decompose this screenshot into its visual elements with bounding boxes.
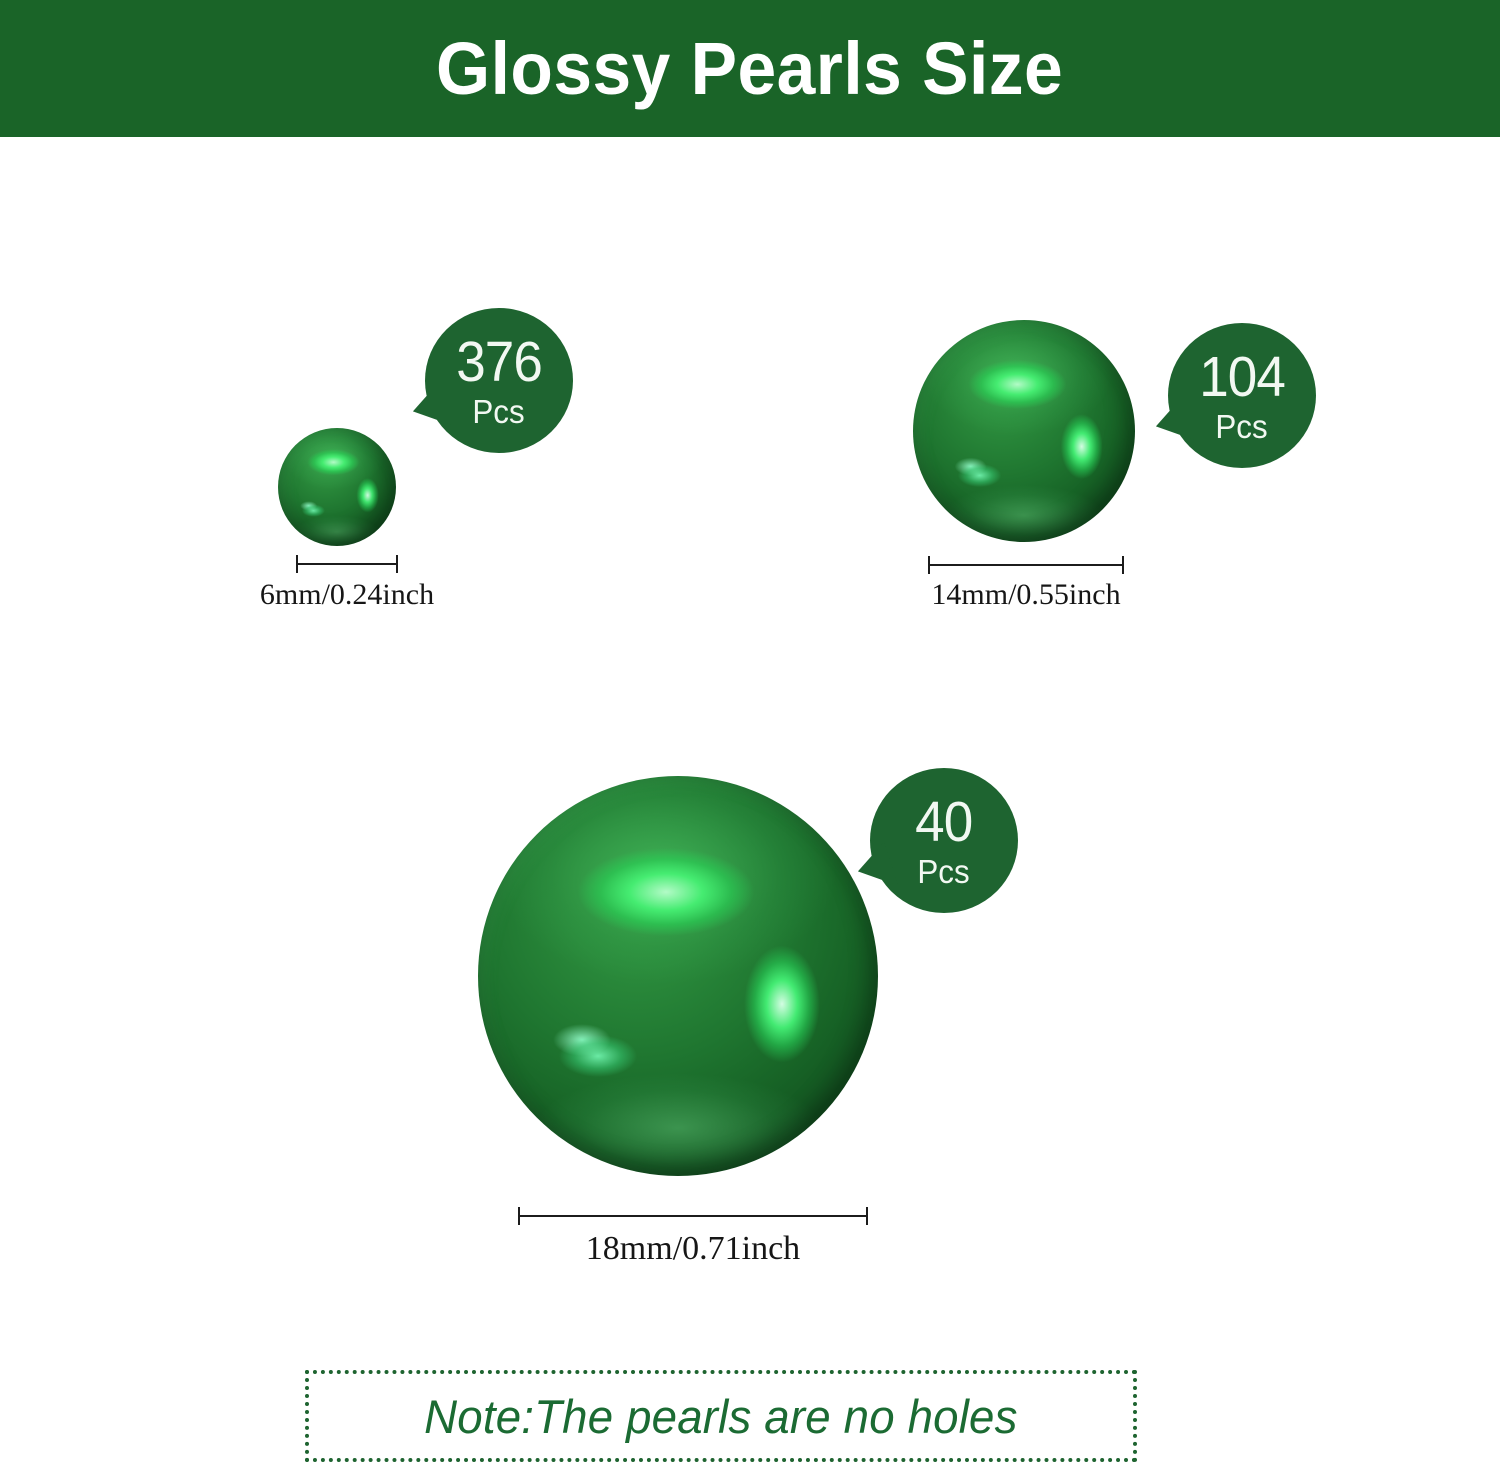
bubble-unit-medium: Pcs — [1216, 410, 1268, 443]
callout-bubble-medium: 104 Pcs — [1168, 323, 1316, 468]
dimension-line-medium — [928, 556, 1124, 574]
bubble-label-group-small: 376 Pcs — [425, 308, 573, 453]
dimension-rule-icon — [928, 564, 1124, 566]
pearl-image-medium — [913, 320, 1135, 542]
product-size-infographic: Glossy Pearls Size 376 Pcs 6mm/0.24inch … — [0, 0, 1500, 1466]
bubble-count-medium: 104 — [1199, 349, 1285, 406]
pearl-image-small — [278, 428, 396, 546]
dimension-cap-right-icon — [866, 1207, 868, 1225]
size-label-small: 6mm/0.24inch — [147, 580, 547, 610]
size-label-large: 18mm/0.71inch — [493, 1232, 893, 1266]
dimension-line-large — [518, 1207, 868, 1225]
size-label-medium: 14mm/0.55inch — [826, 580, 1226, 610]
note-box: Note:The pearls are no holes — [305, 1370, 1137, 1462]
pearl-image-large — [478, 776, 878, 1176]
bubble-label-group-medium: 104 Pcs — [1168, 323, 1316, 468]
dimension-line-small — [296, 555, 398, 573]
dimension-cap-right-icon — [1122, 556, 1124, 574]
dimension-cap-right-icon — [396, 555, 398, 573]
bubble-label-group-large: 40 Pcs — [870, 768, 1018, 913]
bubble-unit-large: Pcs — [918, 855, 970, 888]
dimension-rule-icon — [296, 563, 398, 565]
note-text: Note:The pearls are no holes — [424, 1389, 1017, 1444]
bubble-count-large: 40 — [915, 794, 972, 851]
dimension-rule-icon — [518, 1215, 868, 1217]
bubble-unit-small: Pcs — [473, 395, 525, 428]
header-banner: Glossy Pearls Size — [0, 0, 1500, 137]
callout-bubble-large: 40 Pcs — [870, 768, 1018, 913]
callout-bubble-small: 376 Pcs — [425, 308, 573, 453]
page-title: Glossy Pearls Size — [436, 32, 1063, 106]
bubble-count-small: 376 — [456, 334, 542, 391]
